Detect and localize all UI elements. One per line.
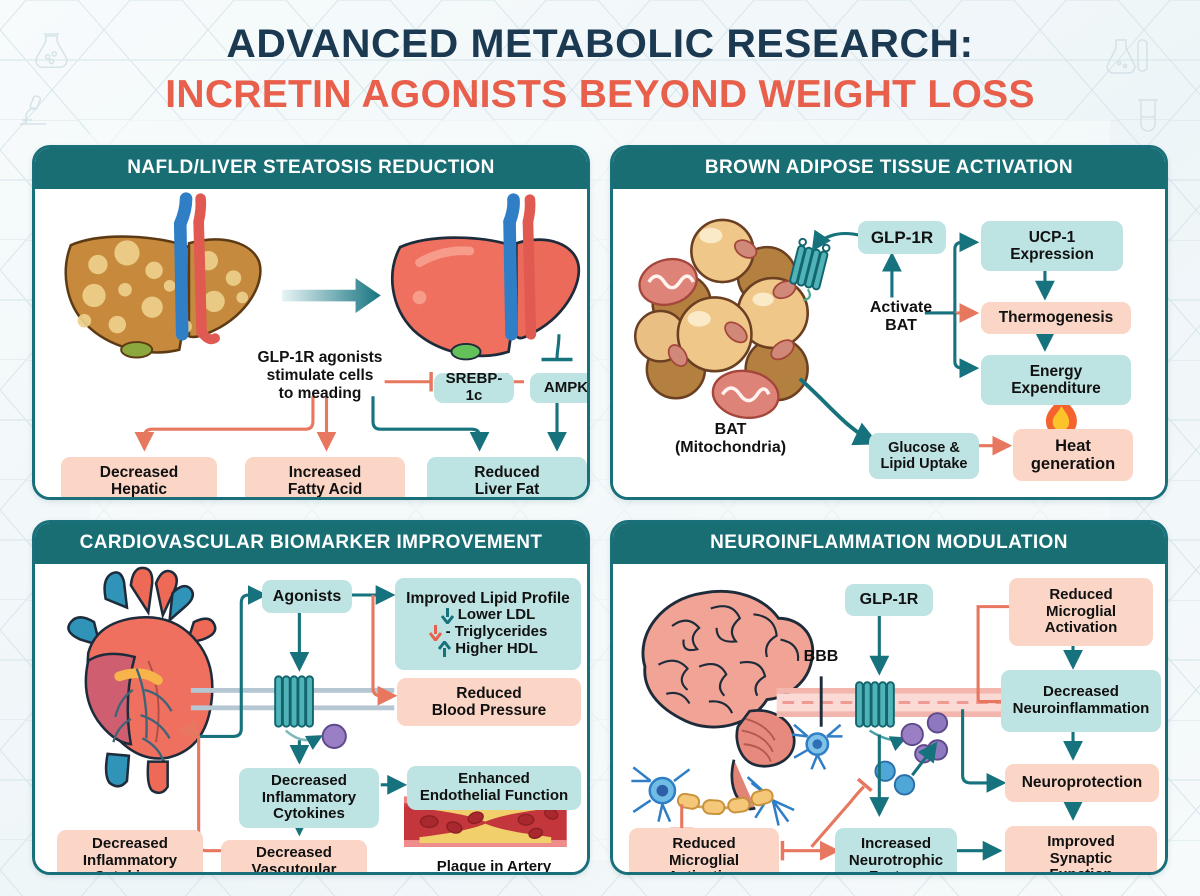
signal-molecules	[875, 713, 947, 794]
transition-arrow-icon	[282, 278, 381, 313]
glp1r-receptor-icon	[786, 238, 830, 303]
heart-illustration	[68, 568, 215, 793]
glp1r-receptor-neuro	[856, 682, 894, 727]
caption-line-1: GLP-1R agonists	[235, 349, 405, 367]
node-energy-expenditure[interactable]: Energy Expenditure	[981, 355, 1131, 405]
node-reduced-microglial-activation-left[interactable]: Reduced Microglial Activation	[629, 828, 779, 875]
panel-body-nafld: GLP-1R agonists stimulate cells to meadi…	[35, 189, 587, 497]
lipid-item-hdl: Higher HDL	[438, 641, 538, 658]
node-enhanced-endothelial-function[interactable]: Enhanced Endothelial Function	[407, 766, 581, 810]
arrow-down-icon	[429, 625, 442, 641]
node-improved-synaptic-function[interactable]: Improved Synaptic Function	[1005, 826, 1157, 875]
lipid-profile-heading: Improved Lipid Profile	[406, 590, 570, 607]
node-reduced-microglial-activation-right[interactable]: Reduced Microglial Activation	[1009, 578, 1153, 646]
page-subtitle: INCRETIN AGONISTS BEYOND WEIGHT LOSS	[0, 73, 1200, 117]
node-reduced-liver-fat-accumulation[interactable]: Reduced Liver Fat Accumulation	[427, 457, 587, 500]
caption-line-3: to meading	[235, 385, 405, 403]
node-increased-neurotrophic-factors[interactable]: Increased Neurotrophic Factors	[835, 828, 957, 875]
panel-nafld: NAFLD/LIVER STEATOSIS REDUCTION	[32, 145, 590, 500]
node-decreased-hepatic-lipogenesis[interactable]: Decreased Hepatic Lipogenesis	[61, 457, 217, 500]
node-improved-lipid-profile[interactable]: Improved Lipid Profile Lower LDL - Trigl…	[395, 578, 581, 670]
caption-line-2: stimulate cells	[235, 367, 405, 385]
nafld-illustration-and-wires	[35, 189, 587, 497]
node-heat-generation[interactable]: Heat generation	[1013, 429, 1133, 481]
node-thermogenesis[interactable]: Thermogenesis	[981, 302, 1131, 334]
panel-body-bat: GLP-1R Activate BAT BAT (Mitochondria) U…	[613, 189, 1165, 497]
node-decreased-neuroinflammation[interactable]: Decreased Neuroinflammation	[1001, 670, 1161, 732]
fatty-liver-illustration	[66, 199, 261, 358]
bbb-label: BBB	[791, 648, 851, 666]
node-glp1r-neuro[interactable]: GLP-1R	[845, 584, 933, 616]
node-increased-fatty-acid-oxidation[interactable]: Increased Fatty Acid Oxidation	[245, 457, 405, 500]
myelinated-axon	[677, 788, 774, 814]
node-ampk[interactable]: AMPK	[530, 373, 590, 403]
node-decreased-inflammatory-cytokines-left[interactable]: Decreased Inflammatory Cytokines	[57, 830, 203, 875]
panel-grid: NAFLD/LIVER STEATOSIS REDUCTION	[32, 145, 1168, 875]
brain-illustration	[643, 591, 813, 809]
panel-title-nafld: NAFLD/LIVER STEATOSIS REDUCTION	[35, 148, 587, 189]
lipid-item-ldl: Lower LDL	[441, 607, 536, 624]
node-decreased-vascutoular-tone[interactable]: Decreased Vascutoular Tone	[221, 840, 367, 875]
node-glucose-lipid-uptake[interactable]: Glucose & Lipid Uptake	[869, 433, 979, 479]
plaque-caption: Plaque in Artery	[407, 858, 581, 875]
node-glp1r-bat[interactable]: GLP-1R	[858, 221, 946, 254]
node-decreased-inflammatory-cytokines-center[interactable]: Decreased Inflammatory Cytokines	[239, 768, 379, 828]
healthy-liver-illustration	[392, 200, 579, 360]
blood-brain-barrier	[777, 676, 1029, 726]
node-reduced-blood-pressure[interactable]: Reduced Blood Pressure	[397, 678, 581, 726]
panel-neuro: NEUROINFLAMMATION MODULATION	[610, 520, 1168, 875]
neuron-illustrations	[631, 725, 842, 826]
nafld-caption: GLP-1R agonists stimulate cells to meadi…	[235, 349, 405, 402]
cell-membrane	[191, 688, 394, 710]
glp1r-receptor-cardio	[275, 676, 313, 726]
panel-body-neuro: GLP-1R BBB Reduced Microglial Activation…	[613, 564, 1165, 872]
panel-title-bat: BROWN ADIPOSE TISSUE ACTIVATION	[613, 148, 1165, 189]
node-neuroprotection[interactable]: Neuroprotection	[1005, 764, 1159, 802]
infographic-header: ADVANCED METABOLIC RESEARCH: INCRETIN AG…	[0, 0, 1200, 117]
panel-cardio: CARDIOVASCULAR BIOMARKER IMPROVEMENT	[32, 520, 590, 875]
panel-body-cardio: Agonists Improved Lipid Profile Lower LD…	[35, 564, 587, 872]
bat-mitochondria-label: BAT (Mitochondria)	[643, 421, 818, 458]
node-srebp-1c[interactable]: SREBP-1c	[434, 373, 514, 403]
signal-molecule-icon	[323, 725, 346, 748]
panel-bat: BROWN ADIPOSE TISSUE ACTIVATION	[610, 145, 1168, 500]
node-ucp1-expression[interactable]: UCP-1 Expression	[981, 221, 1123, 271]
activate-bat-label: Activate BAT	[851, 299, 951, 336]
lipid-item-triglycerides: - Triglycerides	[429, 624, 548, 641]
arrow-up-icon	[438, 641, 451, 657]
brown-adipocyte-cluster	[634, 220, 808, 422]
node-agonists[interactable]: Agonists	[262, 580, 352, 613]
panel-title-cardio: CARDIOVASCULAR BIOMARKER IMPROVEMENT	[35, 523, 587, 564]
page-title: ADVANCED METABOLIC RESEARCH:	[0, 22, 1200, 67]
arrow-down-icon	[441, 608, 454, 624]
panel-title-neuro: NEUROINFLAMMATION MODULATION	[613, 523, 1165, 564]
